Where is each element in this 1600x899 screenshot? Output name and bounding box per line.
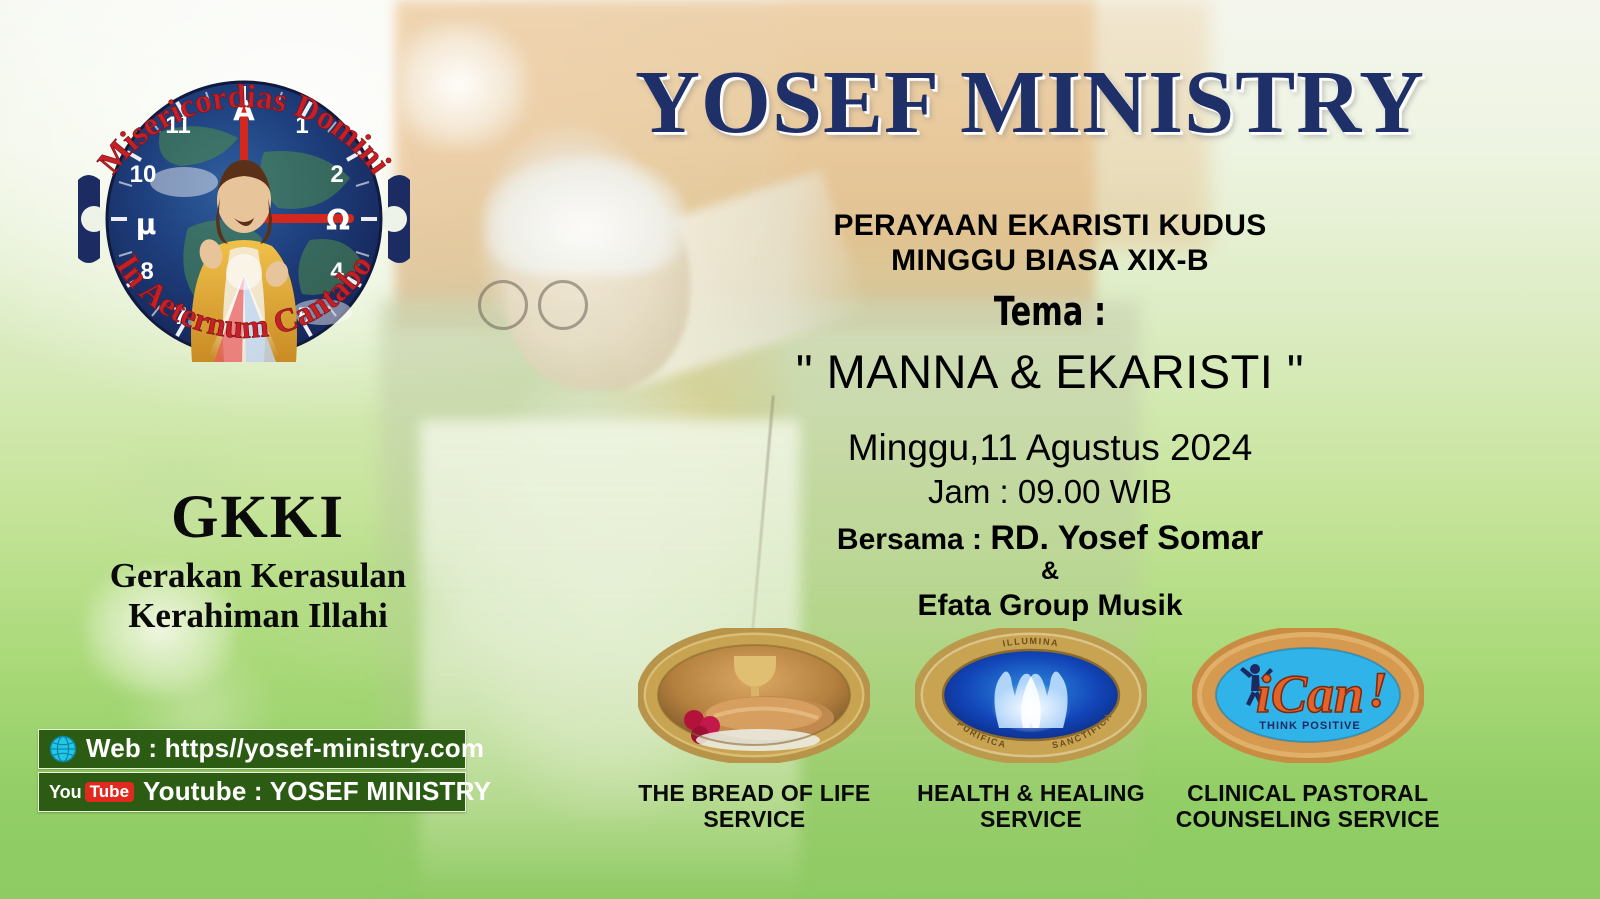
contact-bars: Web : https//yosef-ministry.com You Tube…: [38, 729, 466, 815]
healing-hands-icon: ILLUMINA PURIFICA SANCTIFICA: [915, 628, 1147, 763]
ican-tagline: THINK POSITIVE: [1259, 720, 1360, 732]
event-sunday: MINGGU BIASA XIX-B: [700, 243, 1400, 278]
org-acronym: GKKI: [48, 487, 468, 548]
poster-canvas: 11 1 10 2 8 4 7 5 A Ω μ Ψ: [0, 0, 1600, 899]
organization-block: GKKI Gerakan Kerasulan Kerahiman Illahi: [48, 487, 468, 636]
ican-think-positive-icon: iCan ! THINK POSITIVE: [1192, 628, 1424, 763]
youtube-mark-you: You: [49, 783, 82, 801]
website-bar[interactable]: Web : https//yosef-ministry.com: [38, 729, 466, 769]
youtube-bar[interactable]: You Tube Youtube : YOSEF MINISTRY: [38, 772, 466, 812]
bread-chalice-grapes-icon: [638, 628, 870, 763]
photo-hair: [485, 155, 685, 275]
org-line1: Gerakan Kerasulan: [48, 556, 468, 596]
event-date: Minggu,11 Agustus 2024: [700, 426, 1400, 470]
svg-text:μ: μ: [136, 208, 157, 241]
service-label-line2: SERVICE: [917, 807, 1145, 833]
event-celebrant-name: RD. Yosef Somar: [990, 519, 1263, 557]
gkki-logo: 11 1 10 2 8 4 7 5 A Ω μ Ψ: [64, 22, 424, 412]
service-label-line2: SERVICE: [638, 807, 870, 833]
svg-text:Ω: Ω: [326, 204, 350, 237]
service-clinical-pastoral[interactable]: iCan ! THINK POSITIVE CLINICAL PASTORAL …: [1169, 628, 1446, 833]
event-theme: " MANNA & EKARISTI ": [700, 344, 1400, 400]
org-line2: Kerahiman Illahi: [48, 596, 468, 636]
event-theme-label: Tema :: [784, 287, 1316, 337]
services-row: THE BREAD OF LIFE SERVICE: [616, 628, 1446, 833]
svg-text:10: 10: [130, 161, 157, 188]
photo-glasses: [478, 280, 593, 326]
globe-icon: [49, 735, 77, 763]
youtube-mark-tube: Tube: [85, 782, 134, 802]
service-label-line1: HEALTH & HEALING: [917, 781, 1145, 807]
service-label-line1: THE BREAD OF LIFE: [638, 781, 870, 807]
event-celebrant: Bersama : RD. Yosef Somar: [700, 518, 1400, 559]
youtube-icon: You Tube: [49, 782, 134, 802]
service-bread-of-life[interactable]: THE BREAD OF LIFE SERVICE: [616, 628, 893, 833]
event-time: Jam : 09.00 WIB: [700, 472, 1400, 512]
event-music-group: Efata Group Musik: [700, 588, 1400, 624]
photo-head: [505, 175, 690, 390]
service-health-healing[interactable]: ILLUMINA PURIFICA SANCTIFICA HEALTH & HE…: [893, 628, 1170, 833]
page-title: YOSEF MINISTRY: [560, 58, 1500, 148]
ican-wordmark: iCan !: [1256, 661, 1388, 724]
event-details: PERAYAAN EKARISTI KUDUS MINGGU BIASA XIX…: [700, 208, 1400, 624]
event-celebrant-prefix: Bersama :: [837, 523, 990, 556]
service-label-line1: CLINICAL PASTORAL: [1176, 781, 1440, 807]
service-label-line2: COUNSELING SERVICE: [1176, 807, 1440, 833]
svg-text:iCan: iCan: [1256, 664, 1364, 724]
event-ampersand: &: [700, 558, 1400, 586]
svg-text:2: 2: [330, 161, 343, 188]
youtube-label: Youtube : YOSEF MINISTRY: [143, 776, 491, 807]
event-celebration: PERAYAAN EKARISTI KUDUS: [700, 208, 1400, 243]
website-label: Web : https//yosef-ministry.com: [86, 733, 484, 764]
